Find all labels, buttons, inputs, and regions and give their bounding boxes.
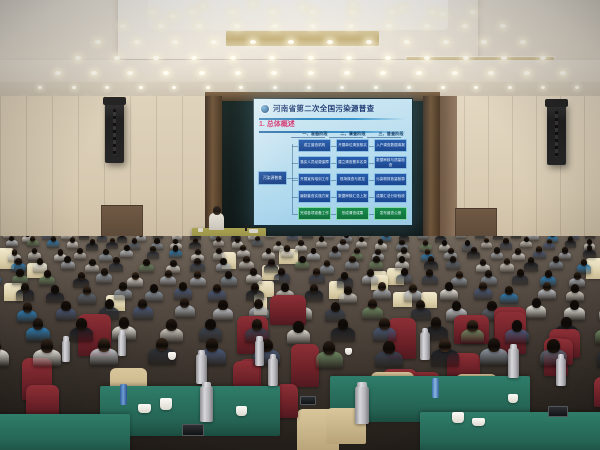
audience-person-head [206,338,218,352]
audience-person-head [278,268,285,276]
ceiling-downlight [190,10,196,14]
audience-person-head [32,248,38,254]
audience-person-head [338,319,349,331]
conference-emblem-icon [260,104,270,114]
audience-person-head [375,249,381,255]
audience-person-head [581,259,588,266]
thermos-flask [556,358,566,386]
audience-person-head [480,259,487,266]
ceiling-downlight [416,71,422,75]
smartphone [300,396,316,405]
ceiling-downlight [380,71,386,75]
audience-person-head [349,256,356,263]
audience-person-head [323,341,335,355]
ceiling-gold-panel [225,30,380,47]
ceiling-downlight [424,24,430,28]
ceiling-downlight [350,3,356,7]
thermos-flask [355,386,369,424]
audience-person-head [213,284,221,293]
audience-person-head [143,259,150,266]
audience-person-head [170,260,177,267]
flowchart-connector [292,197,298,198]
audience-person-head [528,257,535,264]
ceiling-downlight [158,24,164,28]
audience-person-body [324,236,334,239]
audience-person-body [0,275,1,285]
audience-person-head [105,299,114,309]
audience-person-head [284,245,290,251]
audience-person-head [452,301,461,311]
audience-person-body [97,236,107,242]
flowchart-box: 发布普查公报 [374,207,407,220]
audience-area [0,236,600,450]
audience-person-head [195,249,201,255]
ceiling-downlight [196,24,202,28]
audience-person-head [205,319,216,331]
audience-person-head [299,256,306,263]
flowchart-column-header: 二、清查阶段 [338,131,368,137]
audience-person-head [154,238,159,244]
ceiling-downlight [310,10,316,14]
ceiling-downlight [575,86,579,89]
audience-person-body [456,236,466,239]
audience-person-head [64,256,71,263]
audience-person-head [98,338,110,352]
ceiling-downlight [269,56,275,60]
flowchart-root: 污染源普查 [258,171,287,185]
ceiling-downlight [75,56,81,60]
flowchart-box: 编制普查实施方案 [298,190,331,203]
audience-person-head [243,256,250,263]
audience-person-head [110,238,115,244]
ceiling-downlight [344,71,350,75]
ceiling-downlight [200,4,206,8]
thermos-flask [196,354,207,384]
audience-person-head [298,240,303,246]
slide-section-number: 1. [259,121,265,128]
projection-screen: 河南省第二次全国污染源普查 1. 总体概述 污染源普查一、准备阶段二、清查阶段三… [254,99,412,225]
flowchart-column-header: 三、普查阶段 [376,131,406,137]
audience-person-body [0,349,9,367]
audience-person-head [166,319,177,331]
ceiling-downlight [470,10,476,14]
audience-person-head [485,270,492,278]
audience-person-head [235,237,240,243]
lidded-teacup [345,348,352,355]
water-bottle [432,378,439,398]
ceiling-downlight [308,56,314,60]
ceiling-downlight [424,56,430,60]
ceiling-coffer-inner [148,0,448,30]
audience-person-head [494,247,500,253]
audience-person-head [58,249,64,255]
audience-person-head [268,259,275,266]
audience-person-head [216,236,221,242]
banquet-chair [26,385,59,417]
banquet-chair [594,377,600,407]
audience-person-body [79,236,89,240]
ceiling-downlight [500,24,506,28]
ceiling-downlight [234,24,240,28]
lidded-teacup [452,412,464,423]
flowchart-box: 开展宣传培训工作 [298,173,331,186]
flowchart-column-header: 一、准备阶段 [300,131,330,137]
ceiling-downlight [430,10,436,14]
audience-person-head [547,239,552,245]
audience-person-head [51,285,59,294]
audience-person-head [90,239,95,245]
ceiling-downlight [400,6,406,10]
banquet-table [420,412,600,450]
lidded-teacup [138,404,151,413]
ceiling-downlight [72,86,76,89]
audience-person-head [344,236,349,238]
ceiling-downlight [307,86,311,89]
audience-person-head [119,317,130,329]
slide-section-title: 1. 总体概述 [259,120,295,130]
ceiling-downlight [153,56,159,60]
ceiling-downlight [273,86,277,89]
audience-person-body [265,236,275,238]
presenter-head [213,206,221,215]
audience-person-head [545,270,552,278]
ceiling-downlight [350,10,356,14]
slide-section-label: 总体概述 [267,121,295,128]
audience-person-head [83,286,91,295]
audience-person-head [431,317,442,329]
table-microphone [245,224,247,231]
audience-person-head [488,338,500,352]
flowchart-box: 形成清查成果 [336,207,369,220]
audience-person-head [252,319,263,331]
flowchart-box: 现场核查与质控 [336,173,369,186]
ceiling-downlight [134,40,140,44]
audience-person-head [319,236,324,242]
audience-person-head [165,270,172,278]
audience-person-head [173,245,179,251]
audience-person-head [101,268,108,276]
audience-person-head [368,299,377,309]
ceiling-downlight [560,71,566,75]
audience-person-head [445,282,453,291]
audience-person-head [15,258,22,265]
audience-person-head [409,284,417,293]
ceiling-downlight [441,86,445,89]
ceiling-downlight [488,71,494,75]
audience-person-head [428,256,435,263]
ceiling-downlight [508,86,512,89]
audience-person-head [384,236,389,237]
flowchart-connector [292,146,298,147]
ceiling-downlight [114,56,120,60]
banquet-chair [270,295,306,325]
ceiling-downlight [440,12,446,16]
audience-person-head [250,268,257,276]
audience-person-head [505,286,513,295]
ceiling-downlight [443,40,449,44]
ceiling-downlight [366,40,372,44]
audience-person-head [23,302,32,312]
ceiling-downlight [250,2,256,6]
ceiling-downlight [55,71,61,75]
flowchart-connector [287,178,298,179]
audience-person-head [41,339,53,353]
audience-person-head [156,338,168,352]
audience-person-head [89,259,96,266]
flowchart-box: 数据审核汇总上报 [336,190,369,203]
ceiling-downlight [230,10,236,14]
audience-person-head [61,301,70,311]
audience-person-head [76,318,87,330]
flowchart-box: 开展单位清查核实 [336,139,369,152]
ceiling-downlight [390,10,396,14]
ceiling-downlight [270,10,276,14]
thermos-flask [200,386,213,422]
lidded-teacup [472,418,485,426]
flowchart-box: 建立清查基本名录 [336,156,369,169]
flowchart-box: 完成各项准备工作 [298,207,331,220]
audience-person-head [220,258,227,265]
flowchart-connector [292,214,298,215]
audience-person-head [536,246,542,252]
lidded-teacup [160,398,172,410]
audience-person-head [401,268,408,276]
audience-person-body [511,236,521,239]
audience-person-body [117,236,127,243]
ceiling-downlight [211,40,217,44]
audience-person-body [287,236,297,241]
audience-person-head [179,282,187,291]
lidded-teacup [168,352,176,360]
audience-person-head [124,245,130,251]
audience-person-head [571,284,579,293]
audience-person-head [471,247,477,253]
flowchart-box: 数据审核与质量检查 [374,156,407,169]
lidded-teacup [236,406,247,416]
audience-person-body [528,236,538,241]
audience-person-head [310,284,318,293]
banquet-table [0,414,130,450]
flowchart-connector [292,163,298,164]
ceiling-downlight [520,40,526,44]
audience-person-head [359,237,364,243]
audience-person-head [383,341,395,355]
stage-laptop [249,229,258,233]
audience-person-head [225,271,232,279]
audience-person-head [479,282,487,291]
audience-person-head [341,272,348,280]
ceiling-downlight [38,86,42,89]
audience-person-head [515,248,521,254]
flowchart-box: 污染物排放量核算 [374,173,407,186]
audience-person-head [553,256,560,263]
audience-person-head [456,271,463,279]
line-array-speaker-left [105,101,124,163]
audience-person-head [512,320,523,332]
audience-person-head [180,298,189,308]
projection-screen-frame: 河南省第二次全国污染源普查 1. 总体概述 污染源普查一、准备阶段二、清查阶段三… [253,98,413,226]
thermos-flask [255,340,264,366]
audience-person-head [332,246,338,252]
ceiling-downlight [250,40,256,44]
ceiling-downlight [95,40,101,44]
audience-person-head [439,339,451,353]
audience-person-head [587,239,592,245]
audience-person-head [251,283,259,292]
ceiling-downlight [300,5,306,9]
flowchart-box: 入户调查数据填报 [374,139,407,152]
flowchart-box: 成立普查机构 [298,139,331,152]
audience-person-head [30,236,35,242]
audience-person-head [574,272,581,280]
audience-person-head [379,318,390,330]
audience-person-head [193,238,198,244]
ceiling-downlight [120,24,126,28]
audience-person-head [77,248,83,254]
smartphone [548,406,568,417]
ceiling-downlight [463,56,469,60]
audience-person-head [524,237,529,243]
audience-person-body [595,329,600,344]
thermos-flask [508,348,519,378]
audience-person-head [517,269,524,277]
audience-person-head [44,270,51,278]
audience-person-head [399,240,404,246]
audience-person-head [448,248,454,254]
audience-person-head [547,339,559,353]
audience-person-head [218,300,227,310]
audience-person-body [418,236,428,240]
audience-person-head [51,236,56,242]
ceiling-downlight [308,71,314,75]
ceiling-downlight [150,10,156,14]
flowchart-box: 落实人员经费保障 [298,156,331,169]
audience-person-head [12,249,18,255]
slide-flowchart: 污染源普查一、准备阶段二、清查阶段三、普查阶段成立普查机构落实人员经费保障开展宣… [258,135,408,223]
audience-person-head [119,282,127,291]
audience-person-head [33,318,44,330]
flowchart-connector [292,180,298,181]
audience-person-head [442,240,447,246]
audience-person-head [562,247,568,253]
stage-paper [198,228,203,232]
audience-person-head [103,249,109,255]
audience-person-head [568,236,573,242]
ceiling-downlight [206,86,210,89]
audience-person-head [367,269,374,277]
audience-person-head [113,257,120,264]
ceiling-band-upper [0,60,600,82]
ceiling-downlight [462,24,468,28]
audience-person-head [423,240,428,246]
audience-person-head [378,239,383,245]
audience-person-body [136,236,146,242]
ceiling-downlight [170,14,176,18]
audience-person-body [493,236,503,240]
audience-person-head [401,247,407,253]
flowchart-box: 成果汇总分析验收 [374,190,407,203]
slide-header-title: 河南省第二次全国污染源普查 [273,103,403,115]
audience-person-head [216,248,222,254]
audience-person-head [21,283,29,292]
audience-person-head [132,272,139,280]
audience-person-head [373,256,380,263]
audience-person-head [132,238,137,244]
ceiling-downlight [374,86,378,89]
presenter-torso [209,213,224,230]
audience-person-head [276,241,281,247]
audience-person-head [532,298,541,308]
ceiling-downlight [230,56,236,60]
ceiling-downlight [348,24,354,28]
audience-person-head [465,240,470,246]
ceiling-downlight [386,24,392,28]
audience-person-head [570,300,579,310]
audience-person-head [331,302,340,312]
ceiling-downlight [540,56,546,60]
audience-person-head [194,258,201,265]
line-array-speaker-right [547,103,566,165]
audience-person-head [503,238,508,244]
banquet-chair [291,344,319,387]
audience-person-head [70,237,75,243]
thermos-flask [420,332,430,360]
audience-person-head [467,320,478,332]
water-bottle [120,384,127,405]
thermos-flask [268,358,278,386]
speaker-mount-left [103,97,126,105]
audience-person-head [266,248,272,254]
ceiling-downlight [327,40,333,44]
lidded-teacup [508,394,518,403]
ceiling-downlight [385,56,391,60]
audience-person-head [293,321,304,333]
ceiling-downlight [452,71,458,75]
smartphone [182,424,204,436]
audience-person-head [340,239,345,245]
ceiling-downlight [139,86,143,89]
audience-person-head [561,317,572,329]
speaker-mount-right [545,99,568,107]
conference-hall-photo: 河南省第二次全国污染源普查 1. 总体概述 污染源普查一、准备阶段二、清查阶段三… [0,0,600,450]
ceiling-downlight [310,24,316,28]
audience-person-head [450,256,457,263]
audience-person-head [399,256,406,263]
thermos-flask [118,334,126,356]
audience-person-head [78,272,85,280]
audience-person-body [302,236,312,239]
thermos-flask [62,340,70,362]
ceiling-downlight [272,24,278,28]
audience-person-head [16,269,23,277]
ceiling-downlight [524,71,530,75]
